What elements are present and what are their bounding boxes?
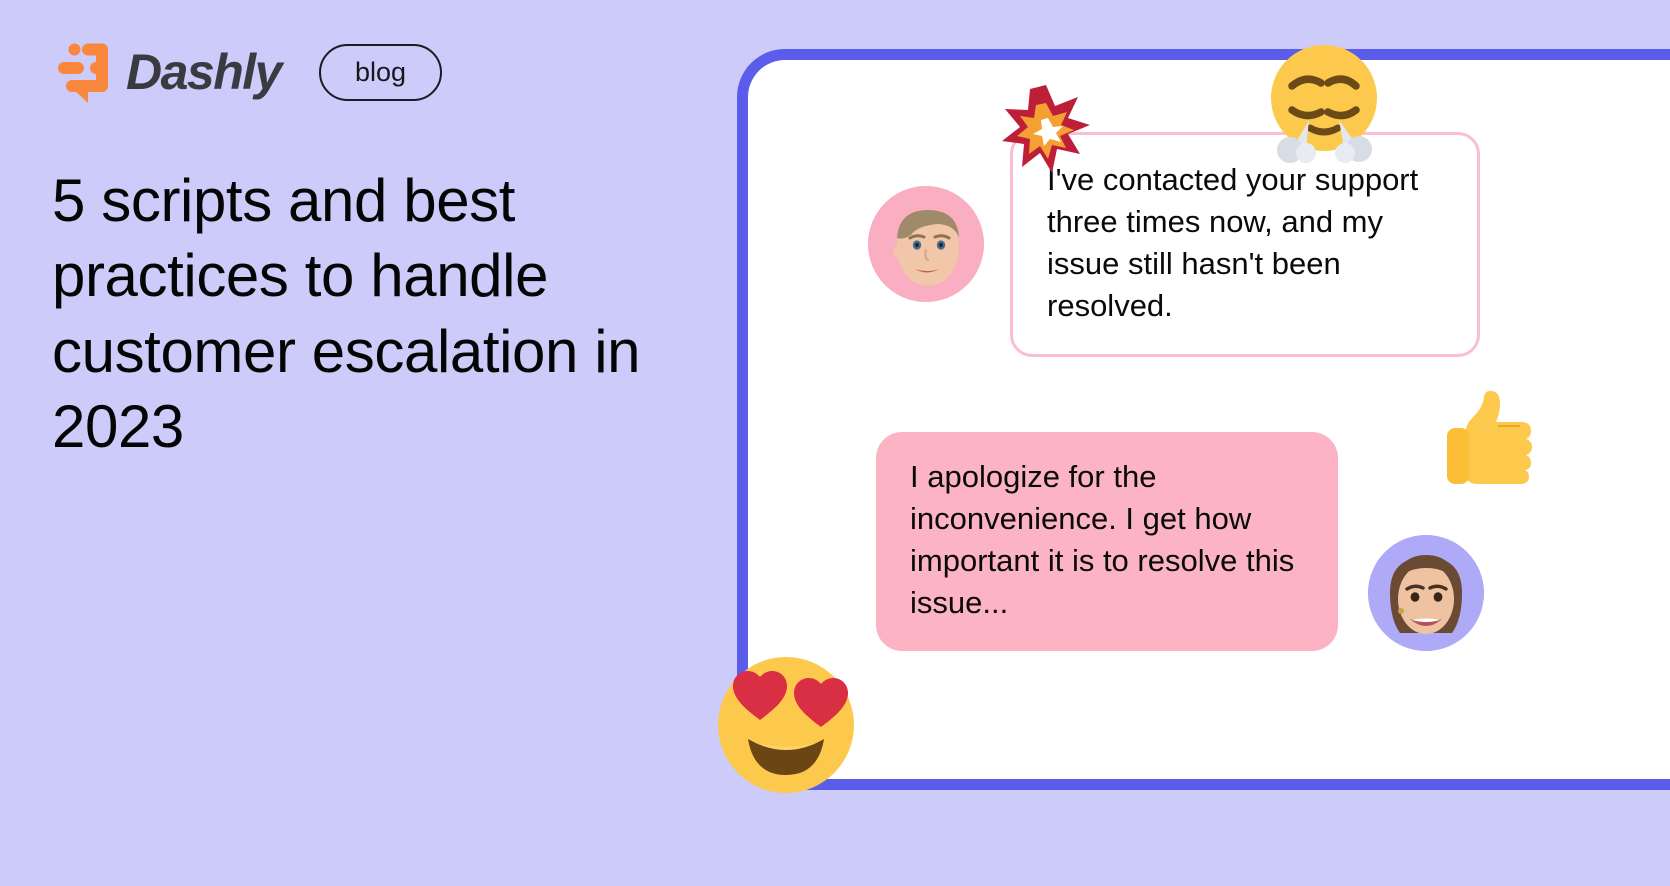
smiling-face-with-heart-eyes-emoji	[711, 650, 861, 800]
agent-avatar	[1368, 535, 1484, 651]
brand-row: Dashly blog	[52, 41, 442, 103]
collision-emoji	[1000, 83, 1092, 175]
chat-bubble-outgoing: I apologize for the inconvenience. I get…	[876, 432, 1338, 651]
customer-avatar	[868, 186, 984, 302]
chat-message-incoming: I've contacted your support three times …	[868, 132, 1480, 357]
dashly-logo[interactable]: Dashly	[52, 41, 281, 103]
dashly-wordmark: Dashly	[126, 47, 281, 97]
page-title: 5 scripts and best practices to handle c…	[52, 163, 677, 464]
thumbs-up-emoji	[1443, 390, 1535, 488]
dashly-speech-bubble-icon	[52, 41, 112, 103]
blog-badge[interactable]: blog	[319, 44, 442, 101]
chat-message-outgoing: I apologize for the inconvenience. I get…	[876, 432, 1484, 651]
face-with-steam-from-nose-emoji	[1262, 40, 1386, 164]
left-panel: Dashly blog 5 scripts and best practices…	[0, 0, 700, 886]
